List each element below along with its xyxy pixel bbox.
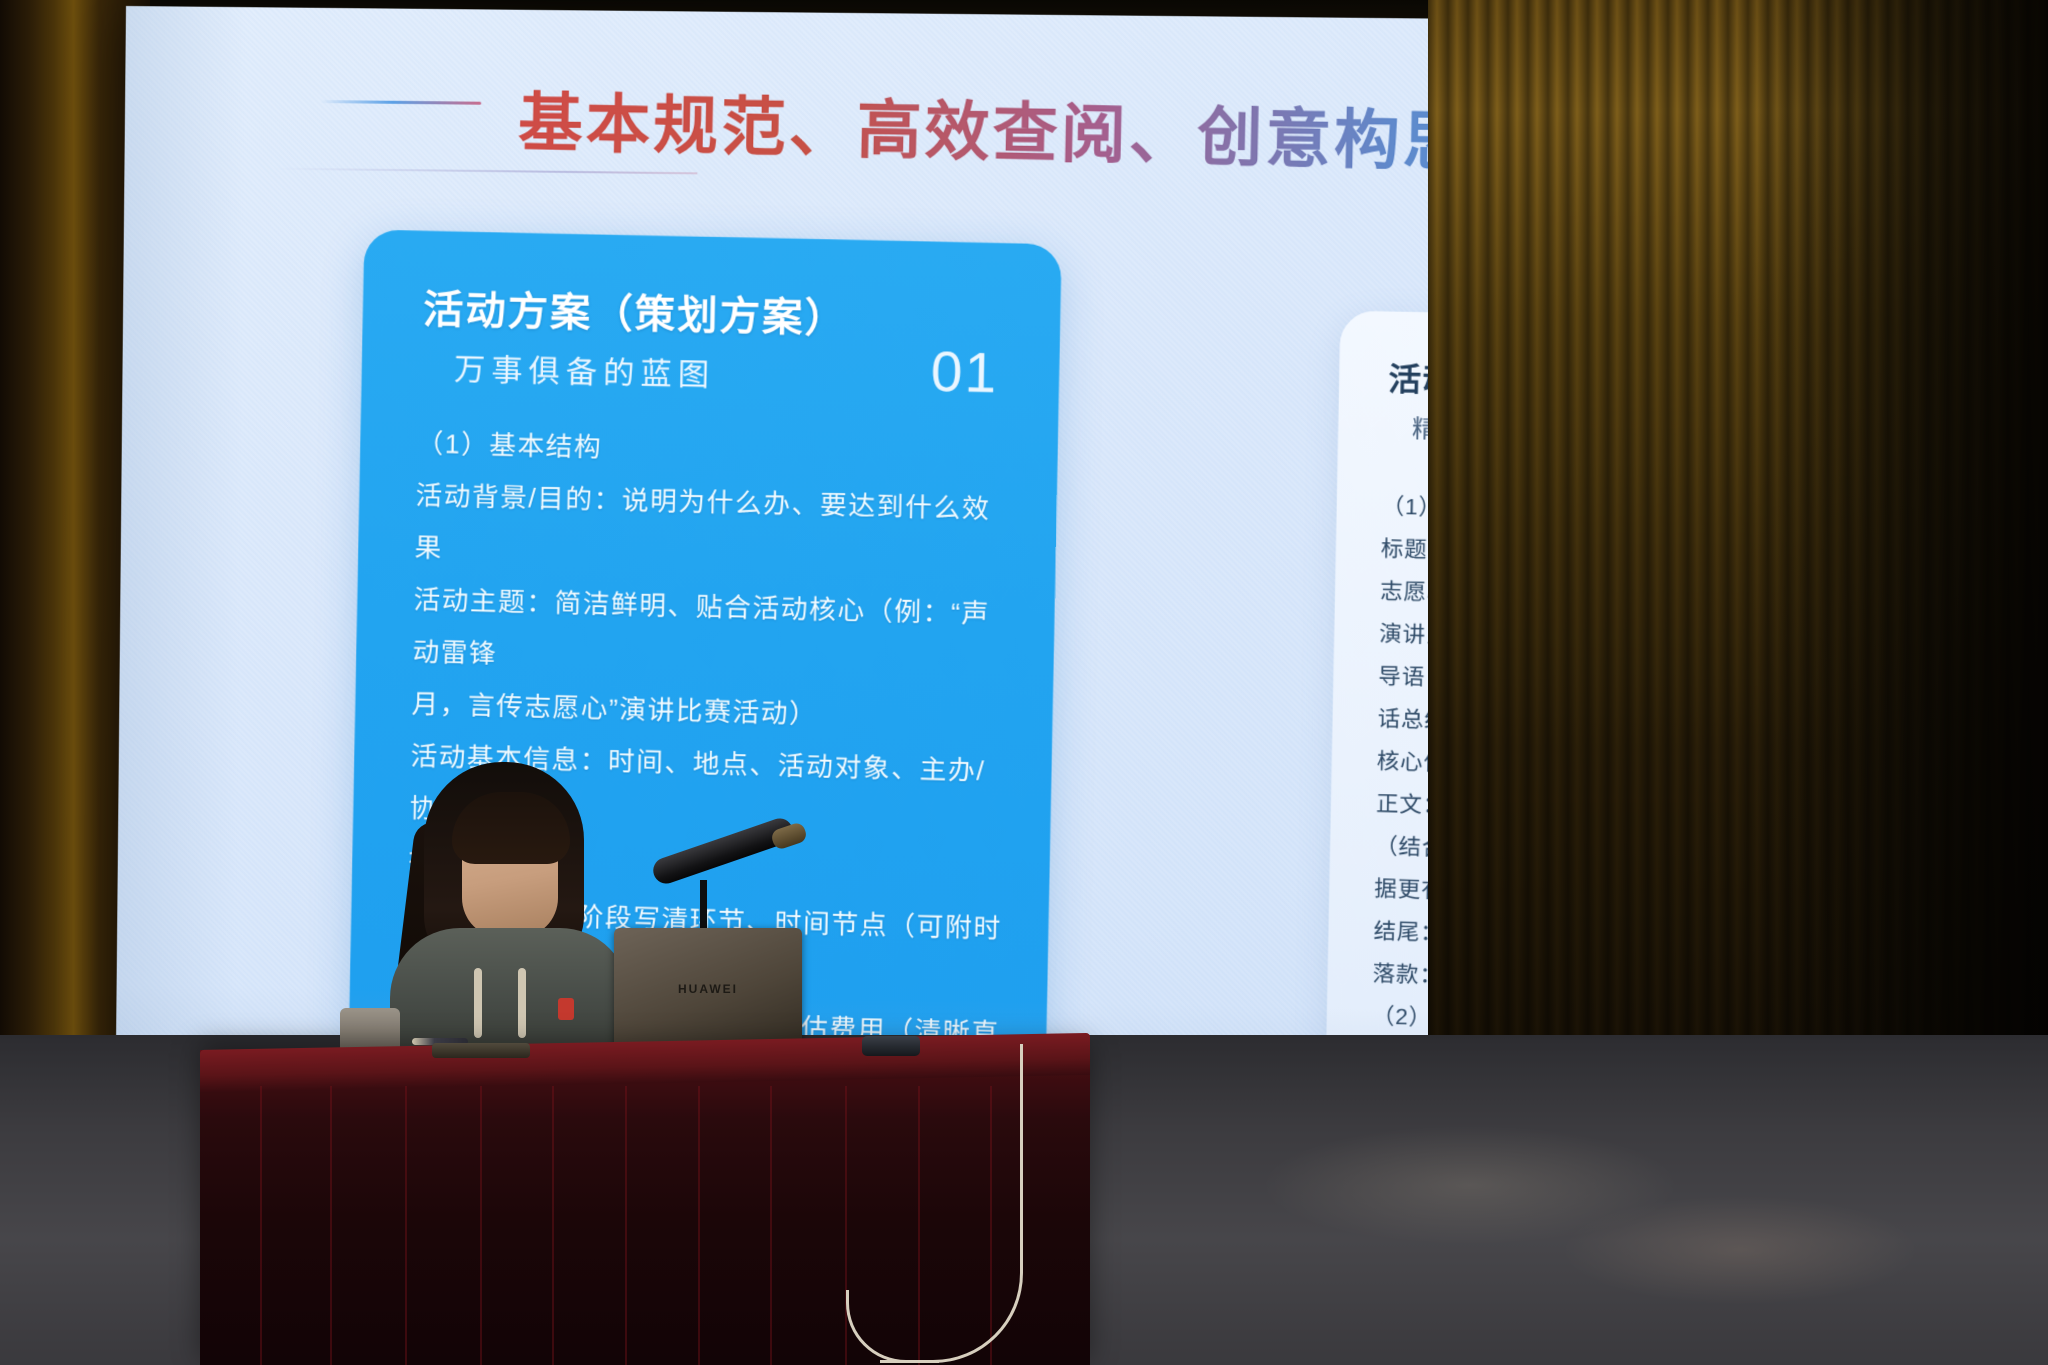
title-decor-line-left	[320, 100, 481, 105]
presenter-badge	[558, 998, 574, 1020]
presenter	[390, 762, 630, 1062]
left-card-number: 01	[930, 338, 999, 405]
screen-decor-faint-line	[275, 168, 698, 175]
laptop-brand-logo: HUAWEI	[668, 982, 748, 996]
list-item: 活动主题：简洁鲜明、贴合活动核心（例：“声动雷锋	[412, 574, 1016, 694]
floor-light-spot-secondary	[1560, 1195, 1920, 1305]
hoodie-drawstring-right	[518, 968, 526, 1038]
phone-on-table	[432, 1043, 530, 1058]
hoodie-drawstring-left	[474, 968, 482, 1038]
presenter-hair-front	[452, 792, 570, 864]
lecture-hall-photo: 基本规范、高效查阅、创意构思、细致完稿 活动方案（策划方案） 万事俱备的蓝图 0…	[0, 0, 2048, 1365]
left-card-title: 活动方案（策划方案）	[423, 277, 848, 345]
left-card-subtitle: 万事俱备的蓝图	[454, 344, 716, 395]
list-item: 活动背景/目的：说明为什么办、要达到什么效果	[414, 469, 1018, 588]
